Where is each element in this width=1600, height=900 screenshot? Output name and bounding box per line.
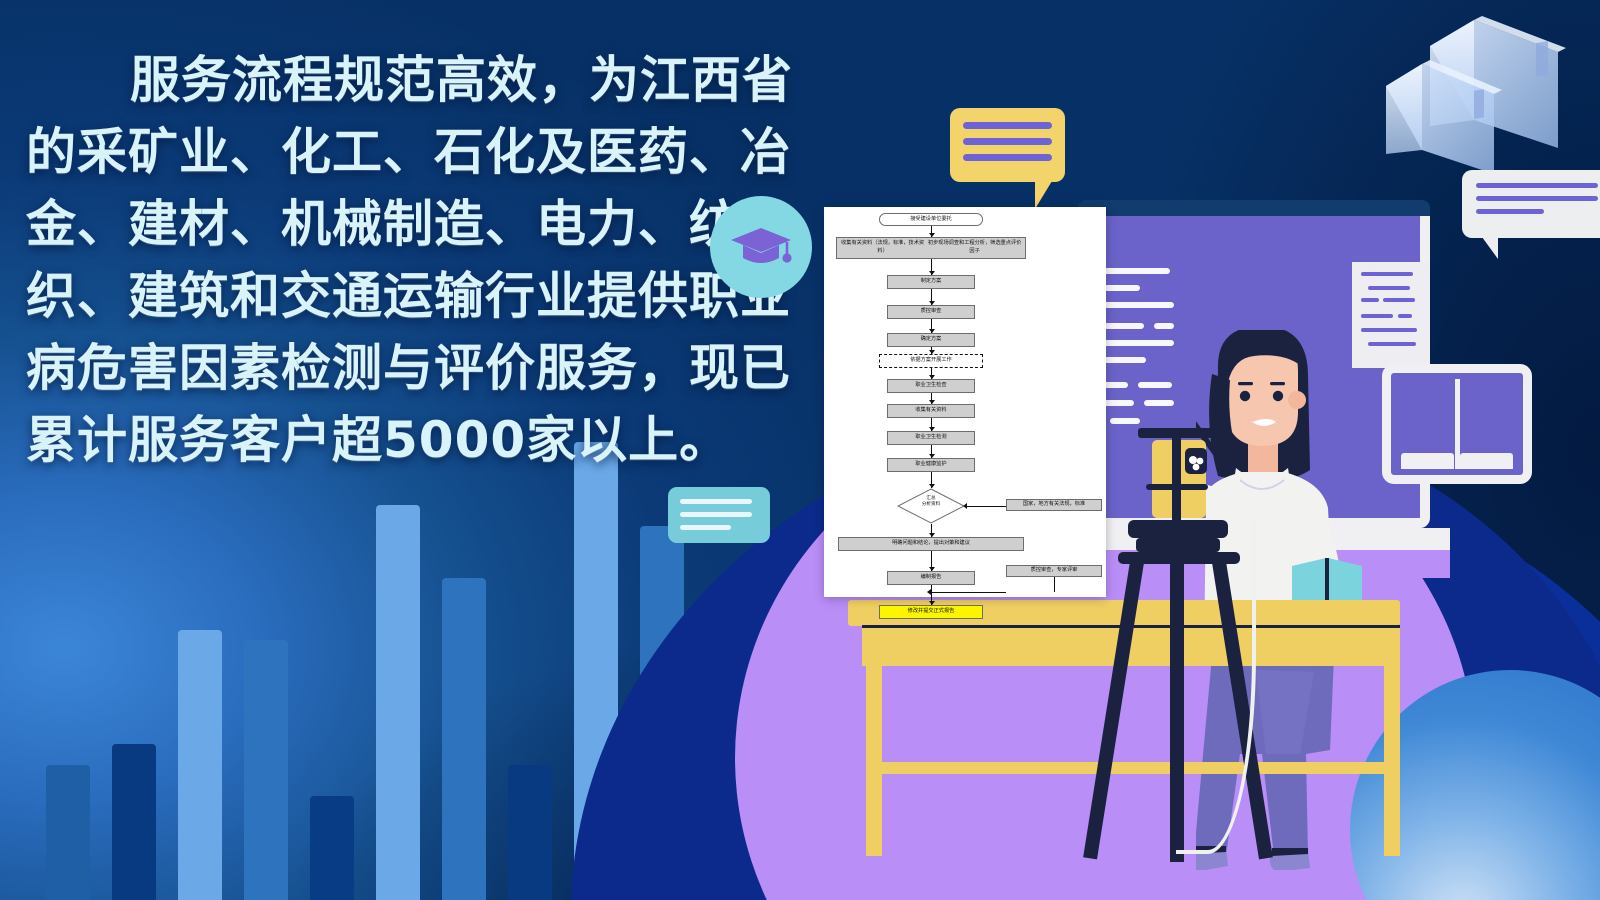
flow-arrowhead bbox=[963, 503, 967, 509]
doc-line bbox=[1361, 272, 1413, 276]
flow-node-n8: 收集有关资料 bbox=[887, 404, 975, 418]
flow-node-n12: 国家，地方有关法规，标准 bbox=[1006, 499, 1102, 511]
flow-node-n5: 确定方案 bbox=[887, 333, 975, 347]
headline-line-6: 累计服务客户超5000家以上。 bbox=[26, 404, 786, 476]
headline-text: 服务流程规范高效，为江西省 的采矿业、化工、石化及医药、冶 金、建材、机械制造、… bbox=[26, 44, 786, 476]
flow-node-n1: 接受建设单位委托 bbox=[879, 213, 983, 226]
chalk-line bbox=[1138, 382, 1172, 388]
flow-node-n6: 依据方案开展工作 bbox=[879, 354, 983, 368]
doc-line bbox=[1398, 314, 1412, 318]
sampler-dial-glyph bbox=[1184, 452, 1208, 474]
bubble-line bbox=[963, 122, 1052, 129]
chart-bar bbox=[178, 630, 222, 900]
tripod-column bbox=[1172, 428, 1181, 534]
chalk-line bbox=[1100, 340, 1174, 346]
bubble-line bbox=[1476, 183, 1598, 188]
flow-node-n2: 收集有关资料（法规，标准，技术资料）初步现场调查和工程分析，筛选重点评价因子 bbox=[836, 237, 1026, 259]
yellow-speech-bubble bbox=[950, 108, 1065, 182]
bubble-line bbox=[680, 512, 752, 517]
headline-line-3: 金、建材、机械制造、电力、纺 bbox=[26, 188, 786, 260]
desk-rail bbox=[866, 762, 1386, 774]
headline-line-2: 的采矿业、化工、石化及医药、冶 bbox=[26, 116, 786, 188]
bubble-line bbox=[680, 525, 731, 530]
chalk-line bbox=[1100, 357, 1146, 363]
bubble-tail bbox=[1482, 237, 1498, 259]
flow-arrowhead bbox=[927, 589, 931, 595]
blackboard-top-rail bbox=[1078, 200, 1430, 216]
flow-node-n9: 职业卫生检测 bbox=[887, 431, 975, 445]
headline-line-1: 服务流程规范高效，为江西省 bbox=[26, 44, 786, 116]
bubble-line bbox=[963, 154, 1052, 161]
workflow-diagram-card: 接受建设单位委托收集有关资料（法规，标准，技术资料）初步现场调查和工程分析，筛选… bbox=[824, 207, 1106, 597]
chart-bar bbox=[508, 765, 552, 900]
chalk-line bbox=[1100, 268, 1170, 274]
chalk-line bbox=[1110, 418, 1140, 424]
chart-bar bbox=[46, 765, 90, 900]
chalk-line bbox=[1154, 323, 1174, 329]
flow-node-n10: 职业健康监护 bbox=[887, 458, 975, 472]
tripod-cross-bar bbox=[1146, 484, 1208, 490]
flow-arrow bbox=[931, 592, 1006, 593]
chart-bar bbox=[376, 505, 420, 900]
chalk-line bbox=[1100, 285, 1140, 291]
chart-bar bbox=[112, 744, 156, 900]
doc-line bbox=[1361, 298, 1379, 302]
flow-node-n11: 汇总分析资料 bbox=[897, 488, 965, 524]
bubble-line bbox=[680, 499, 752, 504]
white-speech-bubble bbox=[1462, 170, 1600, 238]
poster-canvas: 服务流程规范高效，为江西省 的采矿业、化工、石化及医药、冶 金、建材、机械制造、… bbox=[0, 0, 1600, 900]
desk-leg-right bbox=[1384, 666, 1400, 856]
flow-node-n7: 职业卫生检查 bbox=[887, 379, 975, 393]
bubble-line bbox=[963, 138, 1052, 145]
teal-speech-bubble bbox=[668, 487, 770, 543]
flow-node-n14: 编制报告 bbox=[887, 571, 975, 585]
flow-node-n15: 质控审查，专家评审 bbox=[1006, 565, 1102, 577]
chart-bar bbox=[310, 796, 354, 900]
flow-node-n13: 明确问题和结论，提出对策和建议 bbox=[838, 537, 1024, 551]
bubble-tail bbox=[1035, 181, 1052, 209]
flow-arrow bbox=[1054, 577, 1055, 592]
chalk-line bbox=[1144, 400, 1174, 406]
bubble-line bbox=[1476, 209, 1544, 214]
book-page-right bbox=[1460, 453, 1513, 469]
chalk-line bbox=[1100, 323, 1144, 329]
chalk-line bbox=[1100, 302, 1174, 308]
headline-line-4: 织、建筑和交通运输行业提供职业 bbox=[26, 260, 786, 332]
doc-line bbox=[1383, 298, 1415, 302]
desk-leg-left bbox=[866, 666, 882, 856]
flow-node-n3: 制定方案 bbox=[887, 275, 975, 289]
chart-bar bbox=[442, 578, 486, 900]
headline-line-5: 病危害因素检测与评价服务，现已 bbox=[26, 332, 786, 404]
chart-bar bbox=[244, 640, 288, 900]
graduation-cap-icon bbox=[729, 222, 793, 272]
flow-arrow bbox=[967, 506, 1006, 507]
bubble-line bbox=[1476, 196, 1598, 201]
flow-node-n4: 质控审查 bbox=[887, 305, 975, 319]
doc-line bbox=[1368, 286, 1410, 290]
graduation-cap-badge bbox=[710, 196, 812, 298]
doc-line bbox=[1361, 314, 1393, 318]
workflow-diagram: 接受建设单位委托收集有关资料（法规，标准，技术资料）初步现场调查和工程分析，筛选… bbox=[824, 207, 1106, 597]
flow-node-n16: 修改并提交正式报告 bbox=[879, 605, 983, 619]
